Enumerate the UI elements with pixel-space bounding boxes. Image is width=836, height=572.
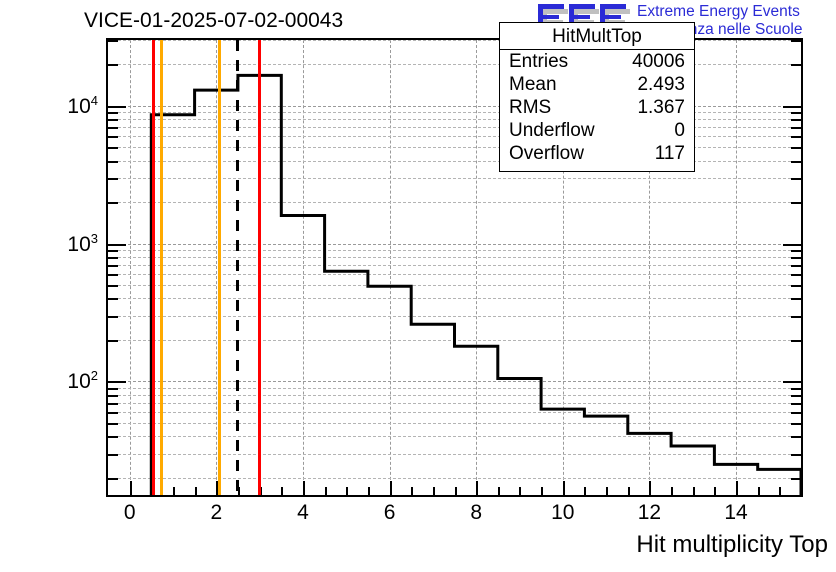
y-tick-mantissa: 10 <box>67 95 90 118</box>
x-axis-tick-label: 2 <box>210 501 222 525</box>
x-axis-tick-label: 6 <box>384 501 396 525</box>
stats-row: Underflow0 <box>500 119 694 142</box>
x-axis-title: Hit multiplicity Top <box>636 531 828 559</box>
y-tick-exponent: 2 <box>91 368 98 383</box>
x-axis-tick-label: 12 <box>638 501 661 525</box>
x-axis-tick <box>801 487 803 495</box>
stats-box-rows: Entries40006Mean2.493RMS1.367Underflow0O… <box>500 50 694 165</box>
stats-row: Overflow117 <box>500 142 694 165</box>
mean-line <box>236 40 239 495</box>
x-axis-tick-label: 14 <box>724 501 747 525</box>
stats-row-key: Mean <box>509 75 557 94</box>
stats-row-key: Overflow <box>509 144 584 163</box>
stats-row: Entries40006 <box>500 50 694 73</box>
stats-row-key: Underflow <box>509 121 595 140</box>
orange-line-high <box>218 40 221 495</box>
red-line-low <box>152 40 155 495</box>
x-axis-tick-label: 8 <box>470 501 482 525</box>
y-tick-exponent: 4 <box>91 93 98 108</box>
stats-box: HitMultTop Entries40006Mean2.493RMS1.367… <box>499 22 695 172</box>
red-line-high <box>258 40 261 495</box>
y-tick-mantissa: 10 <box>67 233 90 256</box>
stats-row-key: Entries <box>509 52 568 71</box>
stats-row-value: 40006 <box>632 52 685 71</box>
page-title: VICE-01-2025-07-02-00043 <box>84 9 343 33</box>
y-axis-tick-label: 104 <box>40 93 98 119</box>
histogram-curve <box>108 40 801 495</box>
plot-frame <box>106 38 803 497</box>
stats-row-value: 0 <box>674 121 685 140</box>
stats-row-key: RMS <box>509 98 551 117</box>
x-axis-tick-label: 10 <box>551 501 574 525</box>
x-axis-tick-label: 0 <box>124 501 136 525</box>
y-tick-mantissa: 10 <box>67 370 90 393</box>
y-axis-tick-label: 103 <box>40 231 98 257</box>
logo-line-primary: Extreme Energy Events <box>637 3 800 21</box>
stats-box-title: HitMultTop <box>500 23 694 50</box>
y-axis-tick-label: 102 <box>40 368 98 394</box>
stats-row: Mean2.493 <box>500 73 694 96</box>
stats-row-value: 1.367 <box>637 98 685 117</box>
y-tick-exponent: 3 <box>91 231 98 246</box>
x-axis-tick-label: 4 <box>297 501 309 525</box>
stats-row-value: 117 <box>655 144 685 163</box>
orange-line-low <box>160 40 163 495</box>
stats-row-value: 2.493 <box>637 75 685 94</box>
stats-row: RMS1.367 <box>500 96 694 119</box>
screenshot-root: VICE-01-2025-07-02-00043 <box>0 0 836 572</box>
